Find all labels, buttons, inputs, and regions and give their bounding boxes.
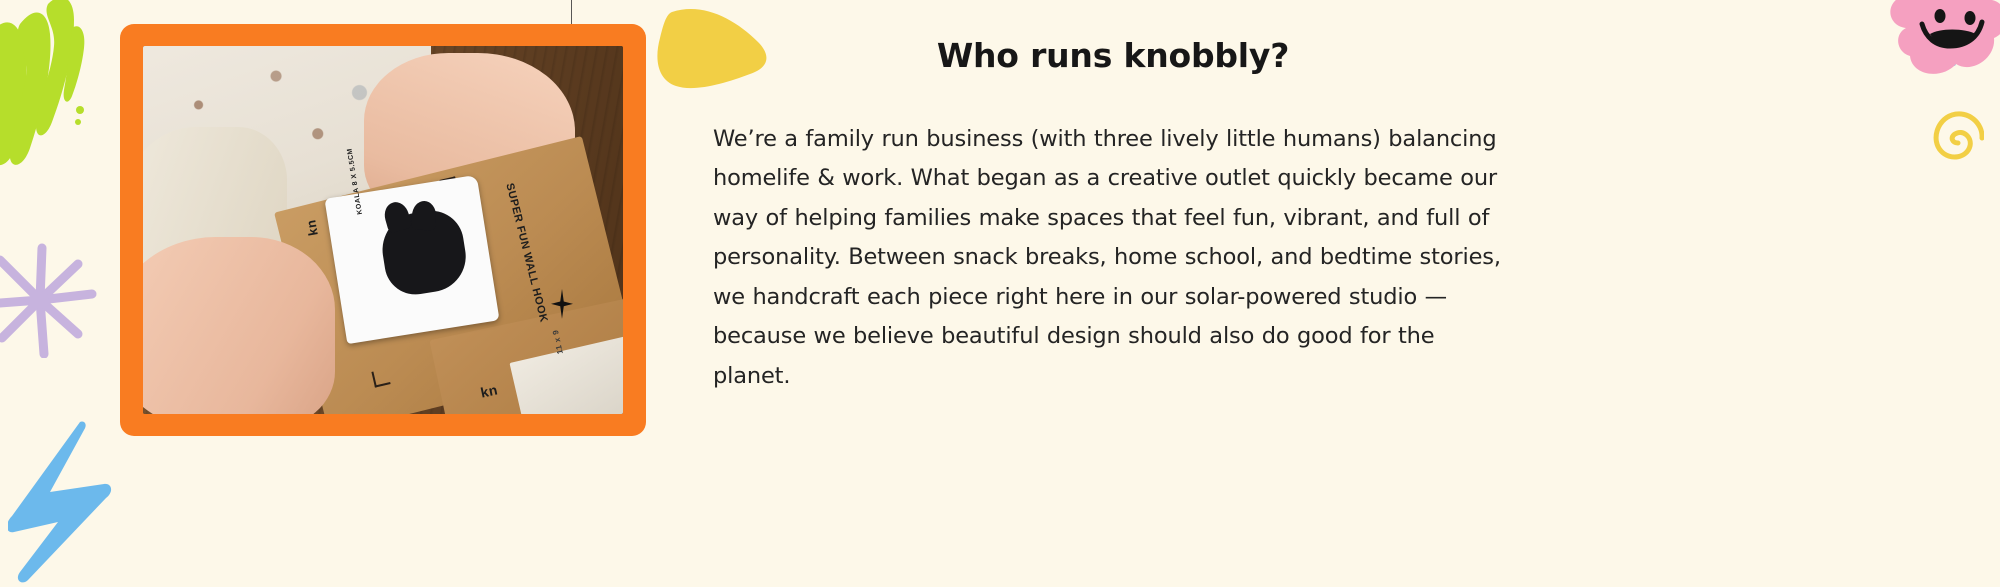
photo-frame: KOALA 8 X 5.5CM SUPER FUN WALL HOOK kn k… bbox=[120, 24, 646, 436]
photo-label-brand-bottom: kn bbox=[479, 381, 499, 400]
yellow-spiral-doodle bbox=[1928, 107, 1984, 163]
photo-hand-lower bbox=[143, 237, 335, 414]
page-title: Who runs knobbly? bbox=[713, 36, 1513, 76]
photo-koala-ear-right bbox=[411, 200, 436, 230]
product-photo: KOALA 8 X 5.5CM SUPER FUN WALL HOOK kn k… bbox=[143, 46, 623, 414]
green-scribble-doodle bbox=[0, 0, 106, 174]
about-section: KOALA 8 X 5.5CM SUPER FUN WALL HOOK kn k… bbox=[0, 0, 2000, 587]
pink-smiling-cloud-doodle bbox=[1880, 0, 2000, 82]
photo-label-brand-left: kn bbox=[303, 219, 321, 238]
blue-sparkle-doodle bbox=[1930, 6, 1982, 66]
blue-lightning-bolt-doodle bbox=[8, 418, 118, 587]
purple-starburst-doodle bbox=[0, 238, 102, 358]
text-column: Who runs knobbly? We’re a family run bus… bbox=[713, 36, 1513, 396]
body-copy: We’re a family run business (with three … bbox=[713, 120, 1513, 397]
